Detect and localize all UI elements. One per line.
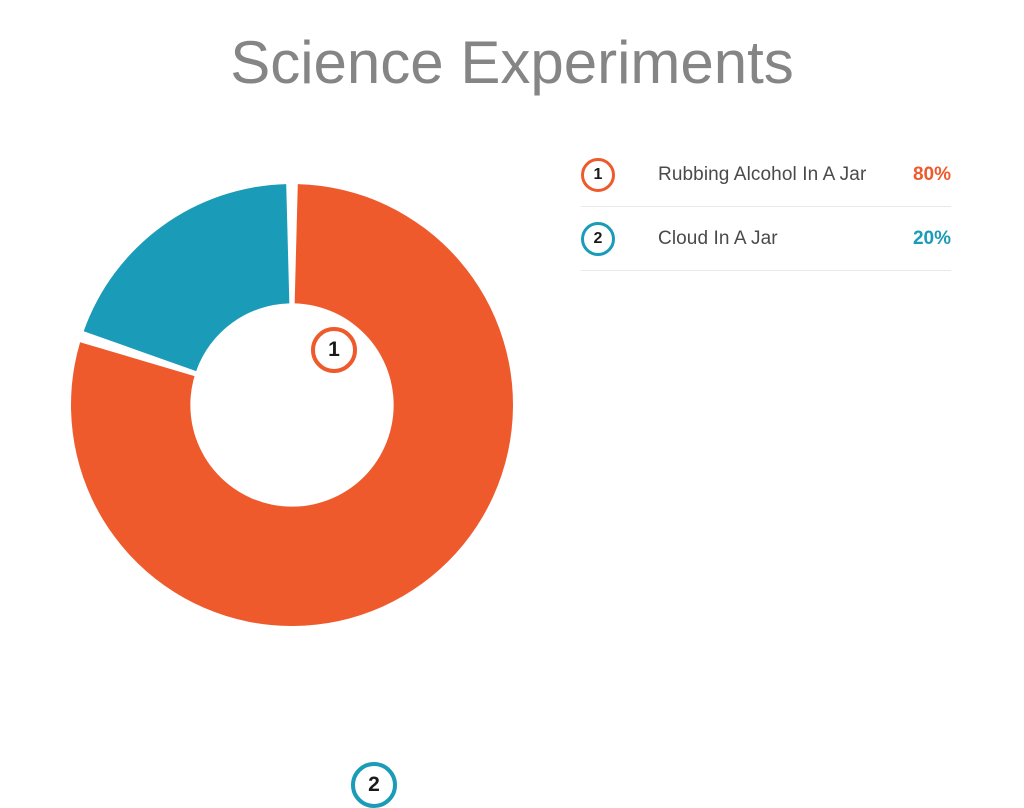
legend-marker-1-label: 1 [594, 166, 603, 184]
legend-label-2: Cloud In A Jar [658, 228, 903, 250]
slide-canvas: Science Experiments 1 2 1 Rubbing Alcoho… [0, 0, 1024, 768]
donut-slice-2[interactable] [84, 184, 290, 371]
chart-legend: 1 Rubbing Alcohol In A Jar 80% 2 Cloud I… [581, 143, 951, 271]
donut-chart-svg [62, 155, 532, 655]
donut-chart: 1 2 [62, 155, 532, 655]
chart-marker-1-label: 1 [328, 338, 340, 362]
chart-marker-2: 2 [351, 762, 397, 808]
chart-marker-1: 1 [311, 327, 357, 373]
legend-value-2: 20% [903, 228, 951, 250]
legend-value-1: 80% [903, 164, 951, 186]
legend-label-1: Rubbing Alcohol In A Jar [658, 164, 903, 186]
legend-row-1[interactable]: 1 Rubbing Alcohol In A Jar 80% [581, 143, 951, 207]
page-title: Science Experiments [0, 28, 1024, 98]
legend-marker-1: 1 [581, 158, 615, 192]
legend-marker-2-label: 2 [594, 230, 603, 248]
chart-marker-2-label: 2 [368, 773, 380, 797]
legend-marker-2: 2 [581, 222, 615, 256]
legend-row-2[interactable]: 2 Cloud In A Jar 20% [581, 207, 951, 271]
